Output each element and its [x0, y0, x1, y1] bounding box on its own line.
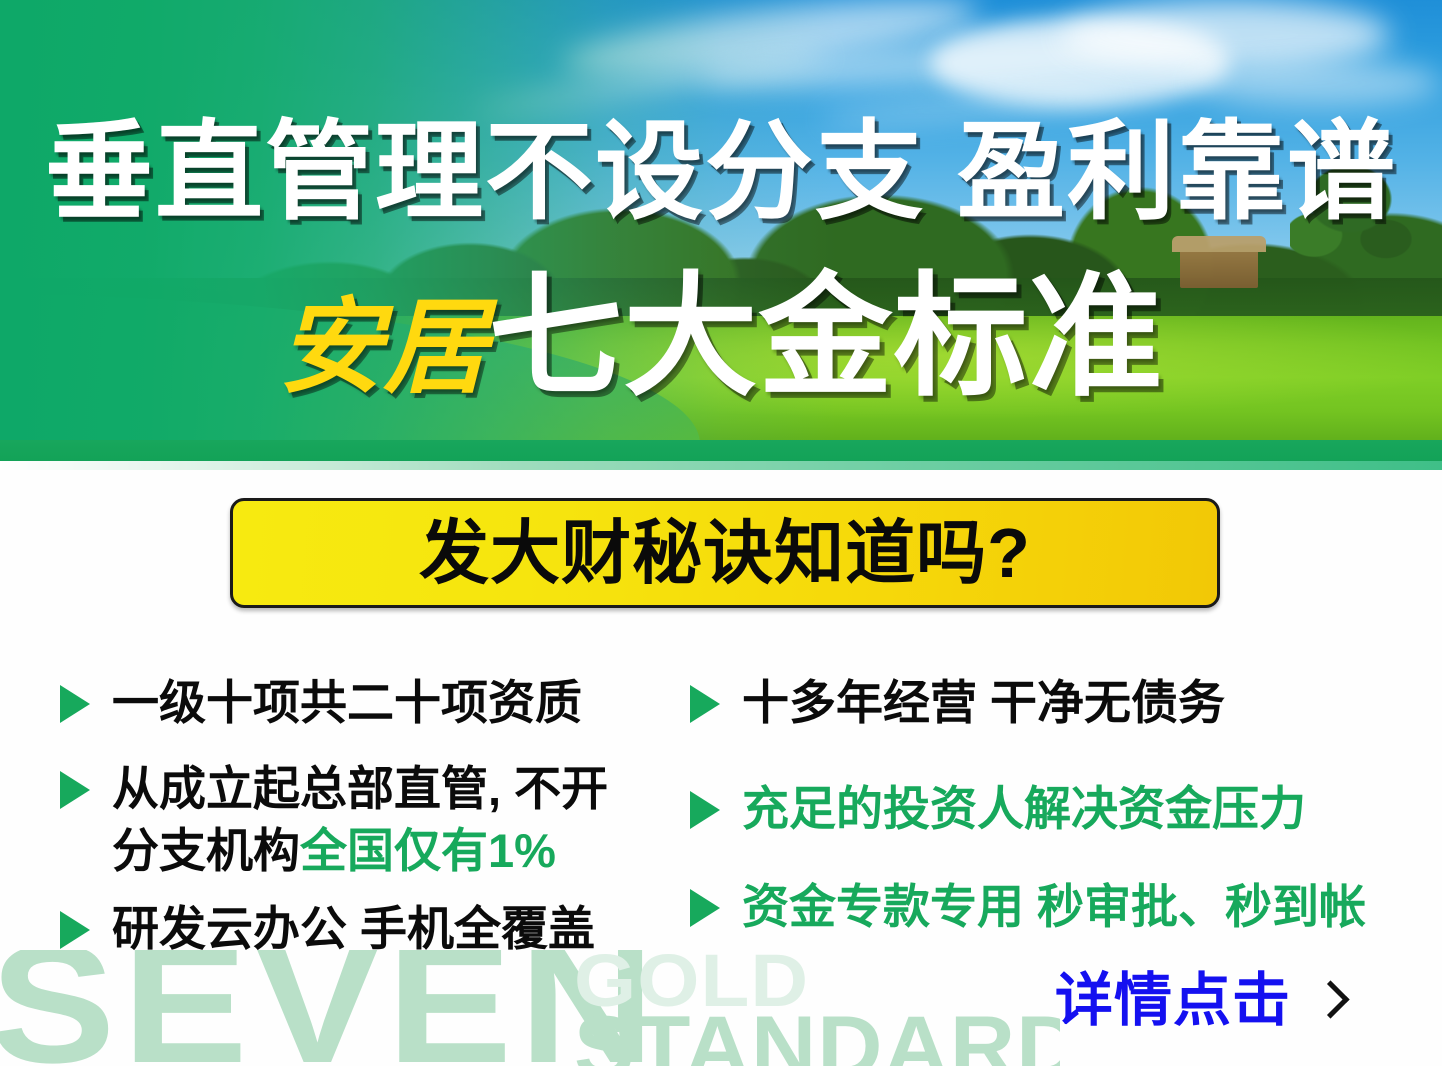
triangle-right-icon [690, 889, 720, 927]
feature-list-left: 一级十项共二十项资质 从成立起总部直管, 不开分支机构全国仅有1% 研发云办公 … [60, 672, 680, 988]
list-item-label: 资金专款专用 秒审批、秒到帐 [742, 876, 1366, 938]
list-item-line1: 从成立起总部直管, 不开 [112, 762, 608, 815]
details-link[interactable]: 详情点击 [1055, 972, 1341, 1030]
list-item: 充足的投资人解决资金压力 [690, 778, 1410, 840]
hero-headline-primary: 垂直管理不设分支 盈利靠谱 [0, 118, 1442, 226]
list-item-label: 从成立起总部直管, 不开分支机构全国仅有1% [112, 758, 608, 882]
list-item: 资金专款专用 秒审批、秒到帐 [690, 876, 1410, 938]
hook-question-text: 发大财秘诀知道吗? [419, 518, 1031, 588]
list-item: 从成立起总部直管, 不开分支机构全国仅有1% [60, 758, 680, 882]
triangle-right-icon [60, 685, 90, 723]
banner-bottom-fade [0, 461, 1442, 470]
list-item-label: 一级十项共二十项资质 [112, 672, 582, 734]
list-item: 一级十项共二十项资质 [60, 672, 680, 734]
list-item-label: 研发云办公 手机全覆盖 [112, 898, 595, 960]
promo-banner-page: 垂直管理不设分支 盈利靠谱 安居七大金标准 发大财秘诀知道吗? 一级十项共二十项… [0, 0, 1442, 1066]
hero-brand-name: 安居 [278, 290, 488, 406]
feature-list-right: 十多年经营 干净无债务 充足的投资人解决资金压力 资金专款专用 秒审批、秒到帐 [690, 672, 1410, 966]
list-item-line2-highlight: 全国仅有1% [300, 824, 556, 877]
triangle-right-icon [690, 791, 720, 829]
triangle-right-icon [60, 911, 90, 949]
watermark-standards: STANDARDS [574, 1004, 1060, 1066]
list-item-label: 充足的投资人解决资金压力 [742, 778, 1306, 840]
list-item: 十多年经营 干净无债务 [690, 672, 1410, 734]
list-item-label: 十多年经营 干净无债务 [742, 672, 1225, 734]
chevron-right-icon [1315, 980, 1341, 1022]
hero-headline-main: 七大金标准 [489, 263, 1164, 412]
list-item-line2-plain: 分支机构 [112, 824, 300, 877]
hero-banner: 垂直管理不设分支 盈利靠谱 安居七大金标准 [0, 0, 1442, 470]
list-item: 研发云办公 手机全覆盖 [60, 898, 680, 960]
triangle-right-icon [690, 685, 720, 723]
details-link-label: 详情点击 [1055, 972, 1291, 1030]
hero-headline-secondary: 安居七大金标准 [0, 276, 1442, 441]
triangle-right-icon [60, 771, 90, 809]
hook-question-banner[interactable]: 发大财秘诀知道吗? [230, 498, 1220, 608]
